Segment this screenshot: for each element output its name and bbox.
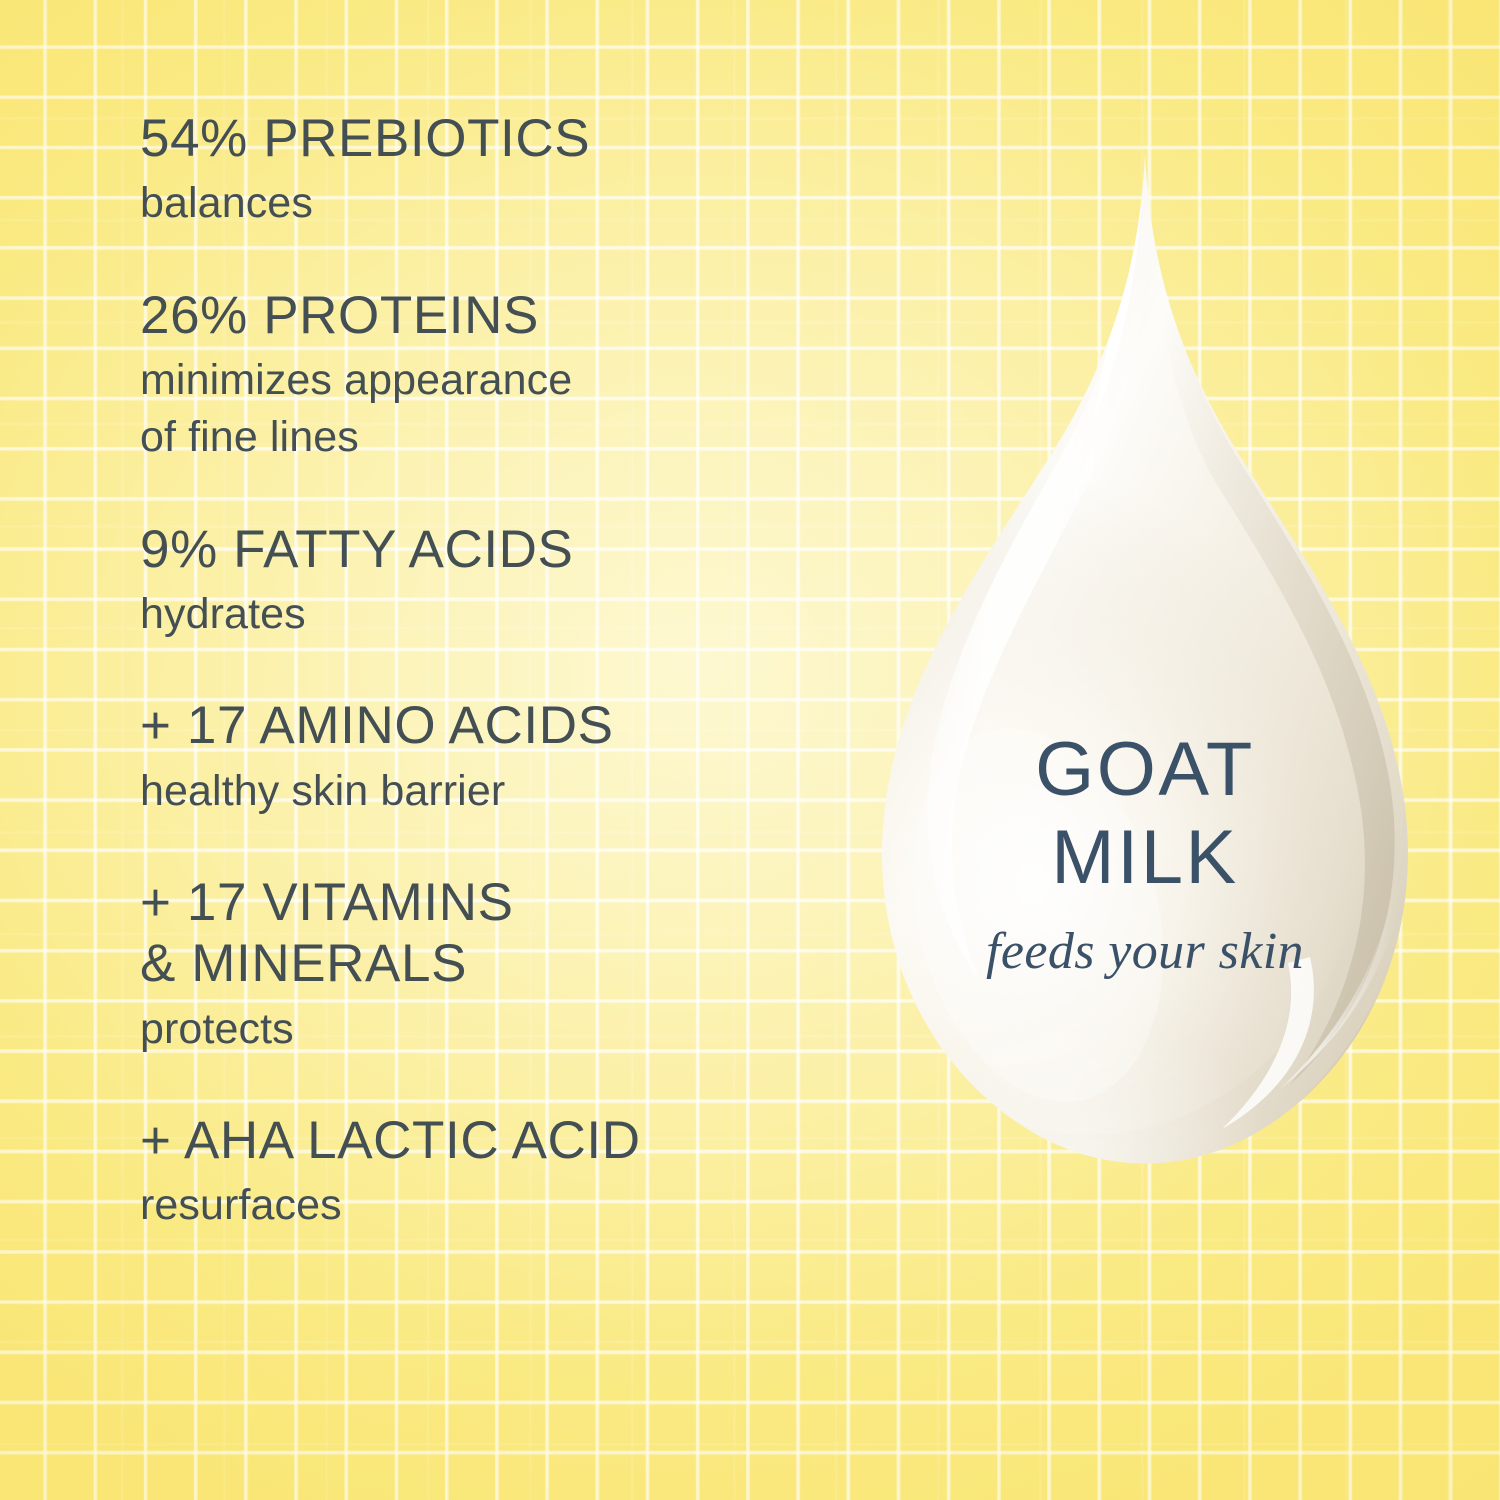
fact-benefit: healthy skin barrier — [140, 763, 860, 820]
fact-benefit: resurfaces — [140, 1177, 860, 1234]
ingredient-fact-list: 54% PREBIOTICS balances 26% PROTEINS min… — [140, 108, 860, 1235]
fact-item-fatty-acids: 9% FATTY ACIDS hydrates — [140, 519, 860, 644]
milk-droplet-graphic: GOAT MILK feeds your skin — [840, 145, 1450, 1205]
fact-headline: + 17 AMINO ACIDS — [140, 695, 860, 756]
droplet-bottom-glow — [868, 855, 1348, 1205]
fact-benefit: minimizes appearance of fine lines — [140, 352, 860, 466]
droplet-icon — [840, 145, 1450, 1205]
fact-headline: + 17 VITAMINS & MINERALS — [140, 872, 860, 995]
fact-benefit: hydrates — [140, 586, 860, 643]
fact-headline: 54% PREBIOTICS — [140, 108, 860, 169]
infographic-canvas: 54% PREBIOTICS balances 26% PROTEINS min… — [0, 0, 1500, 1500]
fact-item-proteins: 26% PROTEINS minimizes appearance of fin… — [140, 285, 860, 467]
fact-headline: + AHA LACTIC ACID — [140, 1110, 860, 1171]
fact-item-amino-acids: + 17 AMINO ACIDS healthy skin barrier — [140, 695, 860, 820]
fact-item-aha-lactic-acid: + AHA LACTIC ACID resurfaces — [140, 1110, 860, 1235]
fact-item-prebiotics: 54% PREBIOTICS balances — [140, 108, 860, 233]
fact-headline: 26% PROTEINS — [140, 285, 860, 346]
fact-benefit: protects — [140, 1001, 860, 1058]
fact-benefit: balances — [140, 175, 860, 232]
fact-headline: 9% FATTY ACIDS — [140, 519, 860, 580]
fact-item-vitamins-minerals: + 17 VITAMINS & MINERALS protects — [140, 872, 860, 1058]
